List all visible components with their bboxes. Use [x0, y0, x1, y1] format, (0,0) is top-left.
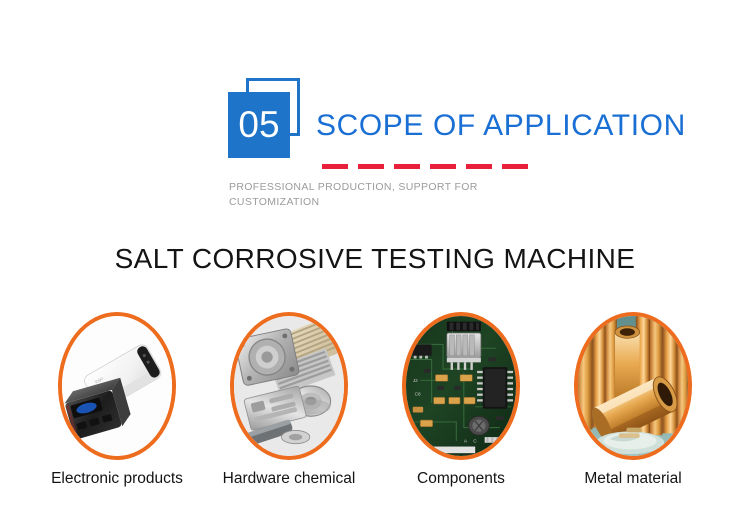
badge-number-text: 05 — [228, 92, 290, 158]
divider-dash — [358, 164, 384, 169]
svg-text:C: C — [473, 439, 477, 445]
machined-metal-parts-photo-icon — [234, 316, 344, 456]
divider-dash — [394, 164, 420, 169]
divider-dash — [430, 164, 456, 169]
application-card-electronic-products: logo Electronic p — [52, 312, 182, 488]
divider-dash — [466, 164, 492, 169]
components-circle: A C C8 J2 — [402, 312, 520, 460]
red-dashed-divider — [322, 164, 528, 169]
header-section: 05 SCOPE OF APPLICATION PROFESSIONAL PRO… — [0, 0, 750, 230]
electronic-products-circle: logo — [58, 312, 176, 460]
application-cards-row: logo Electronic p — [0, 312, 750, 488]
application-card-label: Electronic products — [51, 470, 183, 488]
copper-coil-photo-icon — [578, 316, 688, 456]
divider-dash — [322, 164, 348, 169]
header-subtitle: PROFESSIONAL PRODUCTION, SUPPORT FOR CUS… — [229, 180, 529, 210]
hardware-chemical-circle — [230, 312, 348, 460]
application-card-components: A C C8 J2 Components — [396, 312, 526, 488]
svg-text:C8: C8 — [415, 391, 421, 397]
circuit-board-photo-icon: A C C8 J2 — [406, 316, 516, 456]
application-card-label: Hardware chemical — [223, 470, 356, 488]
application-card-hardware-chemical: Hardware chemical — [224, 312, 354, 488]
application-card-metal-material: Metal material — [568, 312, 698, 488]
page-title: SALT CORROSIVE TESTING MACHINE — [0, 243, 750, 275]
metal-material-circle — [574, 312, 692, 460]
scope-of-application-title: SCOPE OF APPLICATION — [316, 109, 686, 143]
application-card-label: Metal material — [584, 470, 681, 488]
section-number-badge: 05 — [228, 78, 304, 160]
application-scope-slide: 05 SCOPE OF APPLICATION PROFESSIONAL PRO… — [0, 0, 750, 526]
svg-text:J2: J2 — [413, 378, 418, 384]
electronic-devices-photo-icon: logo — [62, 316, 172, 456]
application-card-label: Components — [417, 470, 505, 488]
divider-dash — [502, 164, 528, 169]
